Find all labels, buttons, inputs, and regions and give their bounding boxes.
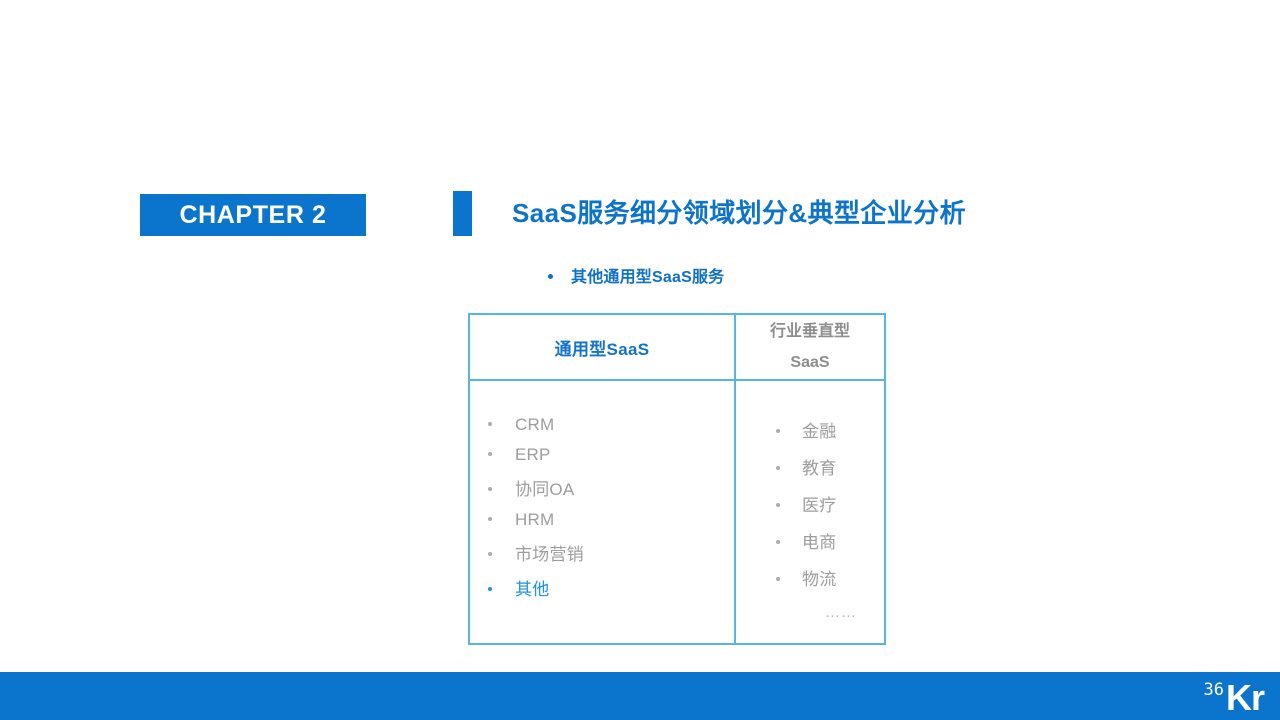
chapter-banner: CHAPTER 2 [140, 194, 366, 236]
brand-logo: 36 Kr [1204, 676, 1265, 716]
list-item[interactable]: ERP [480, 445, 734, 465]
logo-name-kr: Kr [1226, 681, 1264, 714]
bullet-dot-icon [776, 466, 780, 470]
footer-bar [0, 672, 1280, 720]
vertical-saas-ellipsis: …… [736, 604, 884, 622]
chapter-label: CHAPTER 2 [179, 203, 326, 228]
list-item-label: 协同OA [515, 475, 574, 500]
list-item-label: 物流 [802, 565, 836, 590]
list-item[interactable]: CRM [480, 415, 734, 435]
ellipsis-label: …… [825, 604, 857, 621]
vertical-header-line-2: SaaS [790, 354, 829, 371]
list-item[interactable]: 教育 [736, 454, 884, 479]
bullet-dot-icon [488, 517, 492, 521]
table-header-vertical-saas: 行业垂直型 SaaS [736, 315, 884, 381]
list-item-label: CRM [515, 415, 554, 435]
general-saas-cell: CRM ERP 协同OA HRM [470, 381, 736, 643]
slide-canvas: CHAPTER 2 SaaS服务细分领域划分&典型企业分析 其他通用型SaaS服… [0, 0, 1280, 720]
list-item[interactable]: 医疗 [736, 491, 884, 516]
list-item-label: 教育 [802, 454, 836, 479]
list-item[interactable]: 市场营销 [480, 540, 734, 565]
bullet-dot-icon [488, 552, 492, 556]
table-header-general-saas: 通用型SaaS [470, 315, 736, 381]
list-item[interactable]: 物流 [736, 565, 884, 590]
list-item[interactable]: 金融 [736, 417, 884, 442]
bullet-dot-icon [776, 503, 780, 507]
subtitle-row: 其他通用型SaaS服务 [548, 263, 724, 287]
list-item[interactable]: HRM [480, 510, 734, 530]
list-item-label: 医疗 [802, 491, 836, 516]
list-item-label: ERP [515, 445, 551, 465]
vertical-saas-cell: 金融 教育 医疗 电商 [736, 381, 884, 643]
logo-mark-36: 36 [1204, 682, 1224, 699]
table-header-vertical-saas-label: 行业垂直型 SaaS [770, 316, 850, 378]
list-item-label: 市场营销 [515, 540, 584, 565]
bullet-dot-icon [488, 587, 492, 591]
vertical-header-line-1: 行业垂直型 [770, 323, 850, 340]
bullet-dot-icon [776, 429, 780, 433]
title-accent-bar [453, 191, 472, 236]
subtitle-label: 其他通用型SaaS服务 [571, 263, 724, 287]
saas-category-table: 通用型SaaS 行业垂直型 SaaS CRM ERP [468, 313, 886, 645]
list-item[interactable]: 电商 [736, 528, 884, 553]
list-item-label: 金融 [802, 417, 836, 442]
bullet-dot-icon [776, 540, 780, 544]
bullet-dot-icon [488, 487, 492, 491]
page-title: SaaS服务细分领域划分&典型企业分析 [512, 197, 966, 231]
vertical-saas-list: 金融 教育 医疗 电商 [736, 417, 884, 590]
list-item[interactable]: 协同OA [480, 475, 734, 500]
bullet-dot-icon [548, 274, 553, 279]
general-saas-list: CRM ERP 协同OA HRM [480, 415, 734, 600]
list-item-label: 电商 [802, 528, 836, 553]
table-header-general-saas-label: 通用型SaaS [555, 335, 650, 360]
bullet-dot-icon [488, 452, 492, 456]
list-item-label: HRM [515, 510, 554, 530]
bullet-dot-icon [488, 422, 492, 426]
list-item-label: 其他 [515, 575, 549, 600]
bullet-dot-icon [776, 577, 780, 581]
list-item-highlighted[interactable]: 其他 [480, 575, 734, 600]
